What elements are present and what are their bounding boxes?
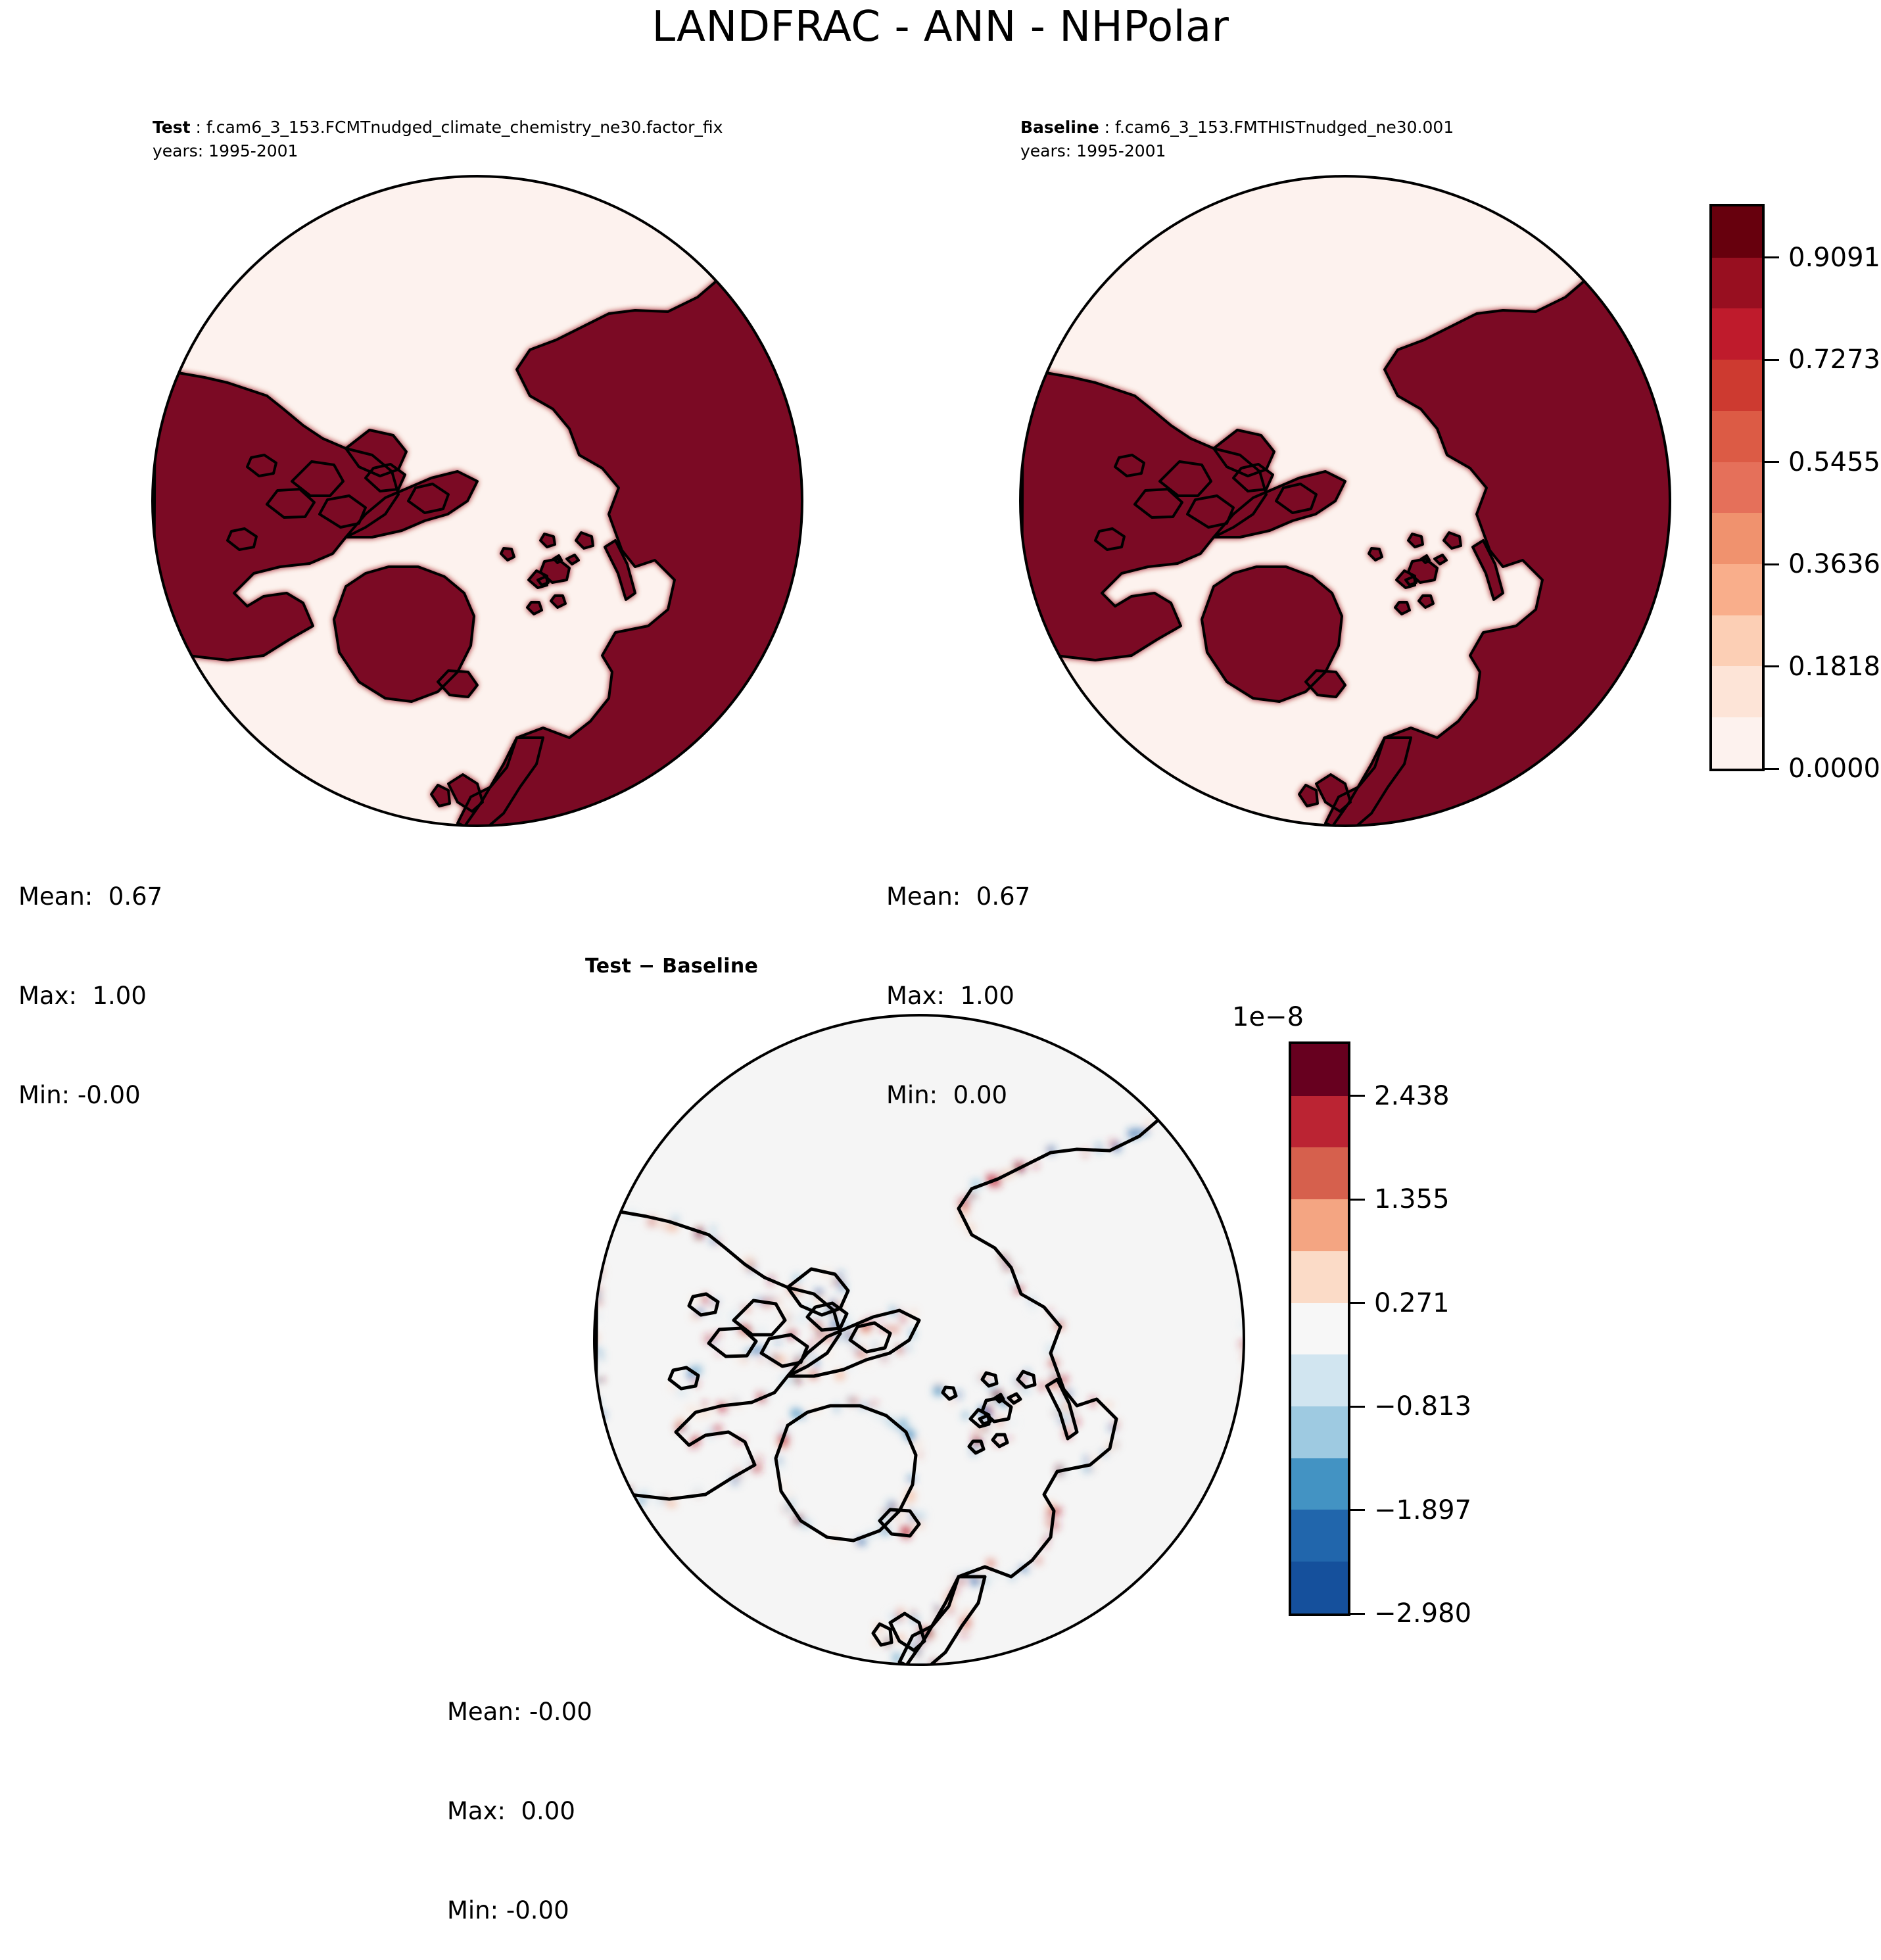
difference-anomaly-cell bbox=[905, 1526, 913, 1531]
difference-anomaly-cell bbox=[1090, 1466, 1093, 1471]
difference-anomaly-cell bbox=[596, 1472, 600, 1481]
difference-anomaly-cell bbox=[596, 1468, 607, 1475]
test-stat-max: Max: 1.00 bbox=[18, 980, 162, 1013]
difference-anomaly-cell bbox=[1244, 1592, 1248, 1596]
test-label: Test bbox=[153, 118, 191, 137]
difference-anomaly-cell bbox=[607, 1205, 616, 1214]
difference-anomaly-cell bbox=[1020, 1389, 1030, 1393]
colorbar-tick-mark bbox=[1765, 256, 1779, 258]
colorbar-tick-3: 0.3636 bbox=[1762, 549, 1880, 579]
difference-anomaly-cell bbox=[591, 1217, 600, 1224]
colorbar-tick-label: 0.5455 bbox=[1788, 447, 1880, 477]
colorbar-band-2 bbox=[1712, 308, 1762, 360]
difference-anomaly-cell bbox=[1245, 1360, 1248, 1370]
difference-anomaly-cell bbox=[960, 1633, 968, 1637]
difference-stat-mean: Mean: -0.00 bbox=[447, 1696, 592, 1729]
colorbar-band-9 bbox=[1291, 1510, 1348, 1562]
difference-anomaly-cell bbox=[971, 1577, 980, 1585]
difference-anomaly-cell bbox=[1210, 1095, 1214, 1100]
colorbar-band-7 bbox=[1291, 1406, 1348, 1458]
difference-anomaly-cell bbox=[1246, 1262, 1248, 1271]
difference-panel-title: Test − Baseline bbox=[585, 955, 758, 978]
difference-anomaly-cell bbox=[597, 1351, 604, 1360]
difference-anomaly-cell bbox=[740, 1304, 744, 1307]
difference-anomaly-cell bbox=[917, 1450, 922, 1459]
colorbar-tick-label: 0.271 bbox=[1374, 1288, 1450, 1318]
difference-anomaly-cell bbox=[1110, 1140, 1116, 1147]
baseline-stat-mean: Mean: 0.67 bbox=[886, 880, 1030, 913]
difference-anomaly-cell bbox=[1244, 1250, 1248, 1258]
colorbar-tick-label: −1.897 bbox=[1374, 1495, 1471, 1525]
difference-anomaly-cell bbox=[711, 1226, 715, 1233]
difference-anomaly-cell bbox=[1245, 1480, 1248, 1491]
colorbar-tick-label: 0.1818 bbox=[1788, 652, 1880, 682]
difference-anomaly-cell bbox=[798, 1317, 807, 1322]
baseline-map bbox=[1016, 172, 1674, 830]
difference-anomaly-cell bbox=[1244, 1400, 1248, 1403]
difference-anomaly-cell bbox=[1247, 1320, 1248, 1324]
difference-anomaly-cell bbox=[594, 1398, 600, 1404]
difference-anomaly-cell bbox=[1168, 1105, 1172, 1111]
difference-anomaly-cell bbox=[609, 1486, 616, 1496]
difference-anomaly-cell bbox=[1245, 1162, 1248, 1166]
colorbar-tick-0: 2.438 bbox=[1348, 1081, 1450, 1111]
colorbar-tick-label: 1.355 bbox=[1374, 1184, 1450, 1214]
colorbar-tick-mark bbox=[1350, 1406, 1365, 1408]
colorbar-band-2 bbox=[1291, 1147, 1348, 1199]
difference-anomaly-cell bbox=[590, 1387, 598, 1395]
colorbar-tick-mark bbox=[1765, 563, 1779, 565]
difference-stat-max: Max: 0.00 bbox=[447, 1795, 592, 1828]
difference-anomaly-cell bbox=[1243, 1377, 1247, 1384]
colorbar-band-8 bbox=[1291, 1458, 1348, 1510]
test-years: years: 1995-2001 bbox=[153, 139, 723, 163]
colorbar-band-4 bbox=[1291, 1251, 1348, 1303]
colorbar-tick-4: −1.897 bbox=[1348, 1495, 1471, 1525]
baseline-stat-min: Min: 0.00 bbox=[886, 1079, 1030, 1112]
colorbar-band-5 bbox=[1712, 462, 1762, 514]
difference-anomaly-cell bbox=[1239, 1097, 1247, 1107]
colorbar-tick-label: 0.9091 bbox=[1788, 243, 1880, 273]
difference-anomaly-cell bbox=[862, 1354, 866, 1358]
difference-colorbar-bar[interactable]: 2.4381.3550.271−0.813−1.897−2.980 bbox=[1289, 1041, 1350, 1616]
difference-anomaly-cell bbox=[1057, 1666, 1062, 1669]
test-panel-caption: Test : f.cam6_3_153.FCMTnudged_climate_c… bbox=[153, 116, 723, 162]
difference-anomaly-cell bbox=[917, 1667, 926, 1669]
difference-anomaly-cell bbox=[994, 1667, 1000, 1669]
difference-anomaly-cell bbox=[1243, 1264, 1248, 1274]
colorbar-band-6 bbox=[1291, 1354, 1348, 1406]
baseline-case-name: f.cam6_3_153.FMTHISTnudged_ne30.001 bbox=[1115, 118, 1454, 137]
difference-anomaly-cell bbox=[1239, 1163, 1248, 1174]
test-case-name: f.cam6_3_153.FCMTnudged_climate_chemistr… bbox=[206, 118, 723, 137]
difference-anomaly-cell bbox=[1034, 1162, 1037, 1168]
colorbar-tick-4: 0.1818 bbox=[1762, 652, 1880, 682]
test-separator: : bbox=[191, 118, 206, 137]
baseline-years: years: 1995-2001 bbox=[1020, 139, 1454, 163]
difference-anomaly-cell bbox=[687, 1406, 696, 1411]
difference-anomaly-cell bbox=[1193, 1094, 1201, 1105]
main-colorbar-bar[interactable]: 0.90910.72730.54550.36360.18180.0000 bbox=[1709, 204, 1765, 771]
difference-anomaly-cell bbox=[891, 1504, 897, 1508]
test-map bbox=[149, 172, 806, 830]
difference-anomaly-cell bbox=[757, 1358, 767, 1362]
difference-stat-min: Min: -0.00 bbox=[447, 1894, 592, 1927]
difference-anomaly-cell bbox=[917, 1512, 925, 1520]
test-stat-min: Min: -0.00 bbox=[18, 1079, 162, 1112]
difference-anomaly-cell bbox=[1247, 1663, 1248, 1669]
difference-anomaly-cell bbox=[608, 1205, 615, 1212]
difference-anomaly-cell bbox=[1029, 1305, 1036, 1310]
colorbar-band-10 bbox=[1291, 1562, 1348, 1613]
colorbar-tick-2: 0.271 bbox=[1348, 1288, 1450, 1318]
difference-anomaly-cell bbox=[776, 1339, 780, 1345]
difference-anomaly-cell bbox=[1246, 1133, 1248, 1137]
difference-anomaly-cell bbox=[1170, 1105, 1177, 1111]
test-stats: Mean: 0.67 Max: 1.00 Min: -0.00 bbox=[18, 814, 162, 1145]
colorbar-tick-2: 0.5455 bbox=[1762, 447, 1880, 477]
difference-anomaly-cell bbox=[861, 1329, 870, 1333]
difference-anomaly-cell bbox=[647, 1221, 656, 1224]
difference-colorbar[interactable]: 1e−8 2.4381.3550.271−0.813−1.897−2.980 bbox=[1289, 1041, 1350, 1616]
baseline-stat-max: Max: 1.00 bbox=[886, 980, 1030, 1013]
difference-anomaly-cell bbox=[928, 1667, 937, 1669]
colorbar-tick-5: −2.980 bbox=[1348, 1598, 1471, 1629]
colorbar-band-0 bbox=[1291, 1044, 1348, 1096]
difference-anomaly-cell bbox=[759, 1328, 765, 1333]
difference-anomaly-cell bbox=[593, 1429, 598, 1435]
difference-anomaly-cell bbox=[905, 1345, 911, 1351]
difference-anomaly-cell bbox=[1157, 1666, 1163, 1669]
difference-anomaly-cell bbox=[1239, 1118, 1242, 1128]
difference-anomaly-cell bbox=[1246, 1497, 1249, 1505]
difference-anomaly-cell bbox=[1085, 1455, 1089, 1464]
difference-anomaly-cell bbox=[1243, 1536, 1248, 1539]
difference-anomaly-cell bbox=[617, 1489, 625, 1496]
difference-anomaly-cell bbox=[1247, 1650, 1248, 1656]
test-stat-mean: Mean: 0.67 bbox=[18, 880, 162, 913]
difference-anomaly-cell bbox=[727, 1397, 735, 1402]
colorbar-tick-mark bbox=[1350, 1302, 1365, 1304]
colorbar-tick-label: 0.7273 bbox=[1788, 345, 1880, 375]
difference-anomaly-cell bbox=[1246, 1652, 1248, 1661]
colorbar-band-7 bbox=[1712, 564, 1762, 615]
difference-anomaly-cell bbox=[1245, 1422, 1248, 1431]
colorbar-band-0 bbox=[1712, 206, 1762, 258]
difference-anomaly-cell bbox=[1243, 1506, 1248, 1513]
difference-anomaly-cell bbox=[1246, 1647, 1248, 1656]
difference-anomaly-cell bbox=[594, 1271, 600, 1277]
difference-anomaly-cell bbox=[1199, 1094, 1210, 1101]
difference-anomaly-cell bbox=[1245, 1571, 1249, 1578]
colorbar-tick-mark bbox=[1765, 461, 1779, 463]
colorbar-band-1 bbox=[1712, 258, 1762, 309]
difference-anomaly-cell bbox=[1246, 1303, 1248, 1307]
difference-anomaly-cell bbox=[1241, 1202, 1246, 1206]
difference-anomaly-cell bbox=[590, 1240, 598, 1249]
difference-anomaly-cell bbox=[1237, 1104, 1243, 1114]
difference-anomaly-cell bbox=[900, 1314, 906, 1324]
difference-anomaly-cell bbox=[934, 1385, 943, 1395]
difference-anomaly-cell bbox=[1239, 1137, 1248, 1145]
difference-anomaly-cell bbox=[1245, 1518, 1248, 1528]
difference-anomaly-cell bbox=[592, 1413, 598, 1418]
difference-anomaly-cell bbox=[1162, 1107, 1170, 1114]
difference-anomaly-cell bbox=[592, 1259, 600, 1266]
difference-anomaly-cell bbox=[1142, 1667, 1151, 1669]
colorbar-tick-label: 0.0000 bbox=[1788, 753, 1880, 784]
colorbar-tick-mark bbox=[1350, 1095, 1365, 1097]
colorbar-tick-label: 0.3636 bbox=[1788, 549, 1880, 579]
colorbar-band-9 bbox=[1712, 666, 1762, 717]
difference-anomaly-cell bbox=[1039, 1383, 1044, 1390]
difference-anomaly-cell bbox=[590, 1446, 596, 1455]
difference-anomaly-cell bbox=[1238, 1228, 1247, 1236]
difference-anomaly-cell bbox=[754, 1347, 761, 1354]
difference-anomaly-cell bbox=[596, 1205, 603, 1212]
difference-anomaly-cell bbox=[1239, 1082, 1244, 1089]
difference-anomaly-cell bbox=[614, 1207, 618, 1214]
difference-anomaly-cell bbox=[1247, 1621, 1248, 1625]
difference-anomaly-cell bbox=[596, 1253, 600, 1261]
difference-anomaly-cell bbox=[600, 1479, 604, 1489]
figure-title: LANDFRAC - ANN - NHPolar bbox=[0, 3, 1881, 51]
colorbar-tick-5: 0.0000 bbox=[1762, 753, 1880, 784]
difference-stats: Mean: -0.00 Max: 0.00 Min: -0.00 bbox=[447, 1629, 592, 1960]
colorbar-band-10 bbox=[1712, 717, 1762, 769]
difference-anomaly-cell bbox=[1247, 1237, 1248, 1243]
colorbar-tick-1: 0.7273 bbox=[1762, 345, 1880, 375]
difference-anomaly-cell bbox=[598, 1233, 604, 1239]
difference-anomaly-cell bbox=[1245, 1421, 1248, 1425]
difference-anomaly-cell bbox=[963, 1412, 968, 1419]
difference-colorbar-offset-label: 1e−8 bbox=[1232, 1002, 1304, 1032]
difference-anomaly-cell bbox=[1180, 1103, 1187, 1112]
difference-anomaly-cell bbox=[869, 1401, 878, 1408]
difference-anomaly-cell bbox=[1203, 1092, 1206, 1098]
colorbar-tick-0: 0.9091 bbox=[1762, 243, 1880, 273]
colorbar-band-1 bbox=[1291, 1096, 1348, 1148]
baseline-separator: : bbox=[1099, 118, 1115, 137]
difference-anomaly-cell bbox=[1046, 1518, 1051, 1526]
difference-anomaly-cell bbox=[1245, 1400, 1248, 1406]
difference-anomaly-cell bbox=[590, 1210, 594, 1214]
difference-anomaly-cell bbox=[1229, 1093, 1233, 1100]
difference-anomaly-cell bbox=[1247, 1208, 1248, 1214]
difference-anomaly-cell bbox=[781, 1423, 786, 1426]
main-colorbar[interactable]: 0.90910.72730.54550.36360.18180.0000 bbox=[1709, 204, 1765, 771]
colorbar-band-4 bbox=[1712, 411, 1762, 462]
difference-anomaly-cell bbox=[1239, 1252, 1247, 1258]
baseline-label: Baseline bbox=[1020, 118, 1099, 137]
difference-anomaly-cell bbox=[595, 1217, 604, 1226]
colorbar-tick-label: 2.438 bbox=[1374, 1081, 1450, 1111]
colorbar-band-3 bbox=[1712, 360, 1762, 411]
colorbar-tick-mark bbox=[1765, 359, 1779, 361]
colorbar-tick-mark bbox=[1765, 768, 1779, 770]
difference-anomaly-cell bbox=[702, 1402, 707, 1408]
difference-anomaly-cell bbox=[1245, 1548, 1248, 1556]
colorbar-tick-mark bbox=[1350, 1509, 1365, 1511]
colorbar-band-8 bbox=[1712, 615, 1762, 667]
colorbar-tick-label: −2.980 bbox=[1374, 1598, 1471, 1629]
difference-anomaly-cell bbox=[667, 1500, 676, 1506]
difference-anomaly-cell bbox=[590, 1235, 598, 1240]
difference-anomaly-cell bbox=[1014, 1270, 1019, 1274]
colorbar-tick-1: 1.355 bbox=[1348, 1184, 1450, 1214]
difference-anomaly-cell bbox=[848, 1397, 854, 1404]
colorbar-tick-label: −0.813 bbox=[1374, 1391, 1471, 1422]
colorbar-band-5 bbox=[1291, 1303, 1348, 1355]
colorbar-tick-3: −0.813 bbox=[1348, 1391, 1471, 1422]
colorbar-tick-mark bbox=[1350, 1613, 1365, 1615]
colorbar-band-3 bbox=[1291, 1199, 1348, 1251]
colorbar-band-6 bbox=[1712, 513, 1762, 564]
colorbar-tick-mark bbox=[1350, 1199, 1365, 1201]
baseline-panel-caption: Baseline : f.cam6_3_153.FMTHISTnudged_ne… bbox=[1020, 116, 1454, 162]
difference-anomaly-cell bbox=[1240, 1263, 1247, 1268]
difference-anomaly-cell bbox=[1217, 1092, 1221, 1101]
baseline-stats: Mean: 0.67 Max: 1.00 Min: 0.00 bbox=[886, 814, 1030, 1145]
difference-anomaly-cell bbox=[1245, 1291, 1248, 1297]
difference-anomaly-cell bbox=[590, 1420, 594, 1430]
difference-anomaly-cell bbox=[1245, 1187, 1248, 1191]
difference-anomaly-cell bbox=[1237, 1153, 1245, 1160]
colorbar-tick-mark bbox=[1765, 665, 1779, 667]
